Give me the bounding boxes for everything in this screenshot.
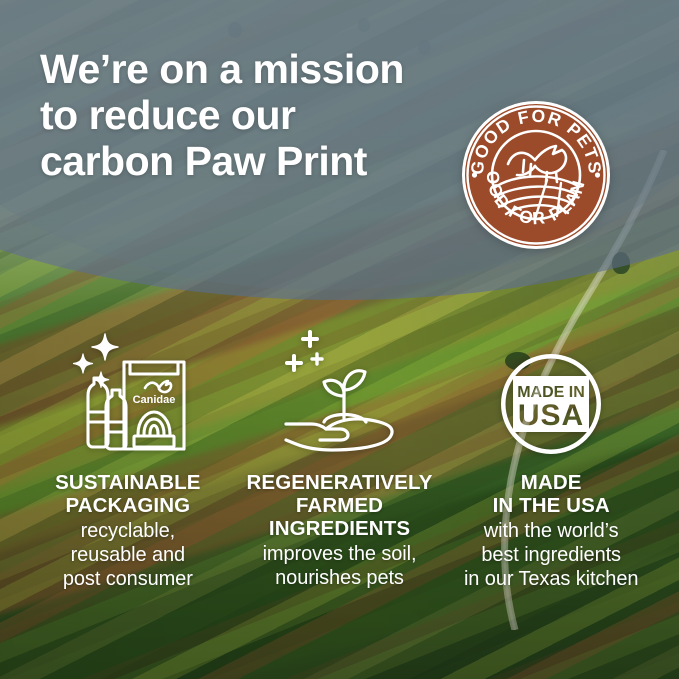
- feature-2-text: REGENERATIVELY FARMED INGREDIENTS improv…: [247, 472, 433, 590]
- good-for-pets-seal: GOOD FOR PETS GOOD FOR PLANET: [461, 100, 611, 250]
- page-title: We’re on a mission to reduce our carbon …: [40, 47, 480, 185]
- feature-regeneratively-farmed: REGENERATIVELY FARMED INGREDIENTS improv…: [234, 318, 446, 590]
- feature-2-title: REGENERATIVELY FARMED INGREDIENTS: [247, 472, 433, 541]
- feature-3-subtitle: with the world’s best ingredients in our…: [464, 519, 638, 591]
- feature-1-title-line-1: SUSTAINABLE: [55, 472, 200, 495]
- feature-3-text: MADE IN THE USA with the world’s best in…: [464, 472, 638, 591]
- mission-banner: We’re on a mission to reduce our carbon …: [0, 0, 679, 679]
- made-in-usa-badge-icon: MADE IN USA: [499, 318, 603, 456]
- recyclable-packaging-icon: Canidae: [58, 318, 198, 456]
- feature-1-sub-line-2: reusable and: [55, 543, 200, 567]
- feature-made-in-usa: MADE IN USA MADE IN THE USA with the wor…: [445, 318, 657, 591]
- headline-line-2: to reduce our: [40, 93, 480, 139]
- hand-holding-sprout-icon: [270, 318, 410, 456]
- feature-3-sub-line-3: in our Texas kitchen: [464, 567, 638, 591]
- feature-1-subtitle: recyclable, reusable and post consumer: [55, 519, 200, 591]
- feature-3-sub-line-1: with the world’s: [464, 519, 638, 543]
- feature-3-sub-line-2: best ingredients: [464, 543, 638, 567]
- feature-2-sub-line-1: improves the soil,: [247, 542, 433, 566]
- seal-dot-right: [595, 172, 600, 177]
- feature-1-title-line-2: PACKAGING: [55, 495, 200, 518]
- seal-dot-left: [472, 172, 477, 177]
- feature-2-title-line-2: FARMED: [247, 495, 433, 518]
- feature-3-title-line-1: MADE: [464, 472, 638, 495]
- feature-2-sub-line-2: nourishes pets: [247, 566, 433, 590]
- feature-1-title: SUSTAINABLE PACKAGING: [55, 472, 200, 518]
- feature-3-title-line-2: IN THE USA: [464, 495, 638, 518]
- feature-1-sub-line-1: recyclable,: [55, 519, 200, 543]
- feature-2-subtitle: improves the soil, nourishes pets: [247, 542, 433, 590]
- feature-1-text: SUSTAINABLE PACKAGING recyclable, reusab…: [55, 472, 200, 591]
- feature-3-title: MADE IN THE USA: [464, 472, 638, 518]
- headline-line-1: We’re on a mission: [40, 47, 480, 93]
- feature-columns: Canidae SUSTAINABLE PACKAGING recyclable…: [0, 318, 679, 591]
- feature-2-title-line-3: INGREDIENTS: [247, 518, 433, 541]
- feature-sustainable-packaging: Canidae SUSTAINABLE PACKAGING recyclable…: [22, 318, 234, 591]
- feature-1-sub-line-3: post consumer: [55, 567, 200, 591]
- feature-2-title-line-1: REGENERATIVELY: [247, 472, 433, 495]
- bag-brand-label: Canidae: [132, 394, 175, 406]
- headline-line-3: carbon Paw Print: [40, 139, 480, 185]
